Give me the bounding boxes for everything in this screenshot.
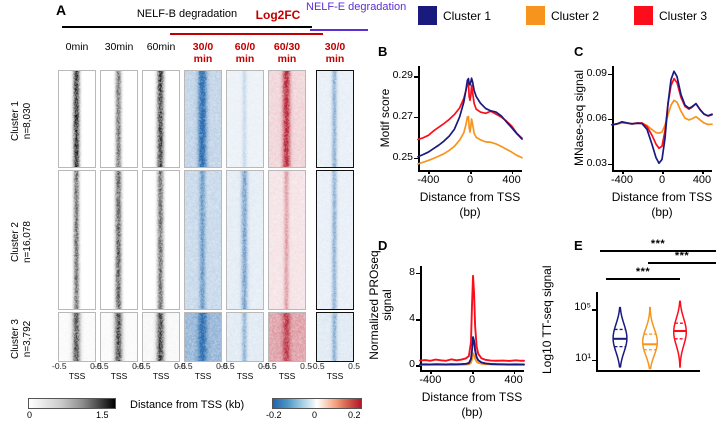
panel-d-xtickmark: [430, 370, 432, 374]
cluster-count: n=16,078: [22, 172, 34, 312]
diverging-colorbar-max: 0.2: [348, 410, 361, 420]
group-rule-log2fc: [170, 33, 323, 35]
legend-item-cluster-3[interactable]: Cluster 3: [634, 6, 707, 25]
cluster-name: Cluster 3: [10, 314, 22, 364]
sig-c1-c2-line: [606, 278, 680, 280]
cluster-label-2: Cluster 2n=16,078: [10, 172, 34, 312]
colorbar-title: Distance from TSS (kb): [130, 399, 244, 411]
heatmap-30min[interactable]: 30min-0.50.5TSS: [100, 70, 138, 360]
heatmap-xtick: -0.5: [178, 361, 193, 371]
cluster-name: Cluster 1: [10, 72, 22, 170]
heatmap-xtick: -0.5: [52, 361, 67, 371]
legend-swatch-cluster-1: [418, 6, 437, 25]
heatmap-header-60min: 60min: [138, 42, 184, 54]
heatmap-log2fc-60-0-cluster-1: [226, 70, 264, 168]
panel-d-xtick: 400: [490, 374, 538, 386]
heatmap-tss-label-log2fc-30-0: TSS: [184, 371, 222, 381]
diverging-colorbar-min: -0.2: [266, 410, 282, 420]
heatmap-log2fc-60-0[interactable]: 60/0min-0.50.5TSS: [226, 70, 264, 360]
heatmap-xtick: 0.5: [348, 361, 360, 371]
panel-b-xtickmark: [470, 170, 472, 174]
gray-colorbar-min: 0: [27, 410, 32, 420]
heatmap-nelfe-30-0-cluster-3: [316, 312, 354, 362]
legend-swatch-cluster-3: [634, 6, 653, 25]
gray-colorbar-max: 1.5: [96, 410, 109, 420]
group-label-nelfe: NELF-E degradation: [306, 1, 372, 13]
cluster-label-1: Cluster 1n=8,030: [10, 72, 34, 170]
heatmap-60min-cluster-1: [142, 70, 180, 168]
violin-cluster-2[interactable]: [643, 308, 658, 369]
panel-d-ylabel: Normalized PROseq signal: [368, 240, 394, 370]
heatmap-tss-label-0min: TSS: [58, 371, 96, 381]
panel-c-xunit: (bp): [588, 205, 720, 220]
heatmap-tss-label-30min: TSS: [100, 371, 138, 381]
heatmap-30min-cluster-2: [100, 170, 138, 310]
panel-c-xtickmark: [622, 170, 624, 174]
sig-c1-c2-label: ***: [627, 266, 659, 278]
heatmap-log2fc-30-0-cluster-2: [184, 170, 222, 310]
heatmap-log2fc-60-30-cluster-3: [268, 312, 306, 362]
panel-e-xaxis: [596, 370, 700, 372]
panel-b-xunit: (bp): [394, 205, 546, 220]
legend-label-cluster-1: Cluster 1: [443, 9, 491, 23]
heatmap-nelfe-30-0-cluster-1: [316, 70, 354, 168]
panel-d-ytick: 4: [382, 312, 415, 324]
heatmap-log2fc-60-30-cluster-2: [268, 170, 306, 310]
panel-b-xlabel: Distance from TSS: [394, 190, 546, 205]
heatmap-header-log2fc-60-30: 60/30min: [264, 42, 310, 65]
panel-b-ytick: 0.27: [380, 110, 413, 122]
gray-colorbar: [28, 398, 116, 409]
legend-item-cluster-1[interactable]: Cluster 1: [418, 6, 491, 25]
series-cluster-2: [418, 117, 522, 164]
heatmap-0min-cluster-2: [58, 170, 96, 310]
heatmap-60min-cluster-2: [142, 170, 180, 310]
legend-label-cluster-2: Cluster 2: [551, 9, 599, 23]
heatmap-xtick: -0.5: [94, 361, 109, 371]
legend-swatch-cluster-2: [526, 6, 545, 25]
series-cluster-3: [612, 79, 712, 149]
series-cluster-1: [418, 78, 522, 157]
heatmap-nelfe-30-0[interactable]: 30/0min-0.50.5TSS: [316, 70, 354, 360]
diverging-colorbar: [272, 398, 362, 409]
panel-b-xtickmark: [428, 170, 430, 174]
heatmap-tss-label-log2fc-60-0: TSS: [226, 371, 264, 381]
heatmap-log2fc-30-0-cluster-1: [184, 70, 222, 168]
panel-b-curves: [418, 66, 522, 170]
heatmap-xtick: -0.5: [220, 361, 235, 371]
heatmap-xticks-nelfe-30-0: -0.50.5: [310, 361, 360, 371]
heatmap-xticks-log2fc-60-30: -0.50.5: [262, 361, 312, 371]
heatmap-30min-cluster-3: [100, 312, 138, 362]
panel-e-letter: E: [574, 238, 583, 253]
panel-e-ylabel: Log10 TT-seq signal: [540, 276, 554, 374]
heatmap-0min[interactable]: 0min-0.50.5TSS: [58, 70, 96, 360]
panel-d-curves: [420, 266, 524, 370]
group-rule-nelfe: [310, 29, 368, 31]
heatmap-log2fc-60-0-cluster-3: [226, 312, 264, 362]
heatmap-log2fc-60-30-cluster-1: [268, 70, 306, 168]
violin-cluster-1[interactable]: [613, 308, 627, 367]
sig-c1-c3-line: [600, 250, 716, 252]
heatmap-log2fc-30-0-cluster-3: [184, 312, 222, 362]
panel-d-xtickmark: [472, 370, 474, 374]
panel-d-ytick: 8: [382, 266, 415, 278]
panel-c-ytick: 0.03: [574, 157, 607, 169]
panel-d-ytick: 0: [382, 358, 415, 370]
panel-c-xtick: 400: [678, 174, 720, 186]
heatmap-tss-label-log2fc-60-30: TSS: [268, 371, 306, 381]
panel-d-xlabel: Distance from TSS: [396, 390, 548, 405]
panel-c-xtickmark: [662, 170, 664, 174]
cluster-count: n=8,030: [22, 72, 34, 170]
heatmap-header-30min: 30min: [96, 42, 142, 54]
panel-d-xtickmark: [514, 370, 516, 374]
legend-item-cluster-2[interactable]: Cluster 2: [526, 6, 599, 25]
heatmap-log2fc-60-30[interactable]: 60/30min-0.50.5TSS: [268, 70, 306, 360]
panel-a-heatmaps: A NELF-B degradation Log2FC NELF-E degra…: [0, 0, 372, 431]
heatmap-tss-label-60min: TSS: [142, 371, 180, 381]
heatmap-30min-cluster-1: [100, 70, 138, 168]
heatmap-0min-cluster-3: [58, 312, 96, 362]
panel-b-letter: B: [378, 44, 387, 59]
panel-c-ytick: 0.09: [574, 67, 607, 79]
violin-cluster-3[interactable]: [674, 301, 687, 367]
legend-label-cluster-3: Cluster 3: [659, 9, 707, 23]
diverging-colorbar-mid: 0: [312, 410, 317, 420]
heatmap-log2fc-60-0-cluster-2: [226, 170, 264, 310]
panel-e-ytick: 10¹: [562, 352, 591, 364]
cluster-name: Cluster 2: [10, 172, 22, 312]
cluster-label-3: Cluster 3n=3,792: [10, 314, 34, 364]
heatmap-60min[interactable]: 60min-0.50.5TSS: [142, 70, 180, 360]
panel-b-ytick: 0.25: [380, 151, 413, 163]
heatmap-header-log2fc-30-0: 30/0min: [180, 42, 226, 65]
heatmap-header-nelfe-30-0: 30/0min: [312, 42, 358, 65]
heatmap-0min-cluster-1: [58, 70, 96, 168]
panel-c-xlabel: Distance from TSS: [588, 190, 720, 205]
heatmap-tss-label-nelfe-30-0: TSS: [316, 371, 354, 381]
sig-c1-c3-label: ***: [642, 238, 674, 250]
panel-c-xtickmark: [702, 170, 704, 174]
heatmap-log2fc-30-0[interactable]: 30/0min-0.50.5TSS: [184, 70, 222, 360]
panel-c-ytick: 0.06: [574, 112, 607, 124]
heatmap-xtick: -0.5: [310, 361, 325, 371]
panel-b-ytick: 0.29: [380, 69, 413, 81]
panel-b-xtickmark: [512, 170, 514, 174]
sig-c2-c3-label: ***: [666, 250, 698, 262]
cluster-legend: Cluster 1Cluster 2Cluster 3: [418, 6, 718, 32]
heatmap-60min-cluster-3: [142, 312, 180, 362]
panel-c-letter: C: [574, 44, 583, 59]
heatmap-header-0min: 0min: [54, 42, 100, 54]
panel-d-xunit: (bp): [396, 405, 548, 420]
sig-c2-c3-line: [648, 262, 716, 264]
panel-c-curves: [612, 66, 712, 170]
cluster-count: n=3,792: [22, 314, 34, 364]
heatmap-header-log2fc-60-0: 60/0min: [222, 42, 268, 65]
heatmap-xtick: -0.5: [262, 361, 277, 371]
panel-e-violins: [596, 292, 700, 370]
heatmap-nelfe-30-0-cluster-2: [316, 170, 354, 310]
panel-e-ytick: 10⁵: [562, 301, 591, 313]
panel-b-xtick: 400: [488, 174, 536, 186]
group-rule-nelfb: [62, 26, 312, 28]
heatmap-xtick: -0.5: [136, 361, 151, 371]
